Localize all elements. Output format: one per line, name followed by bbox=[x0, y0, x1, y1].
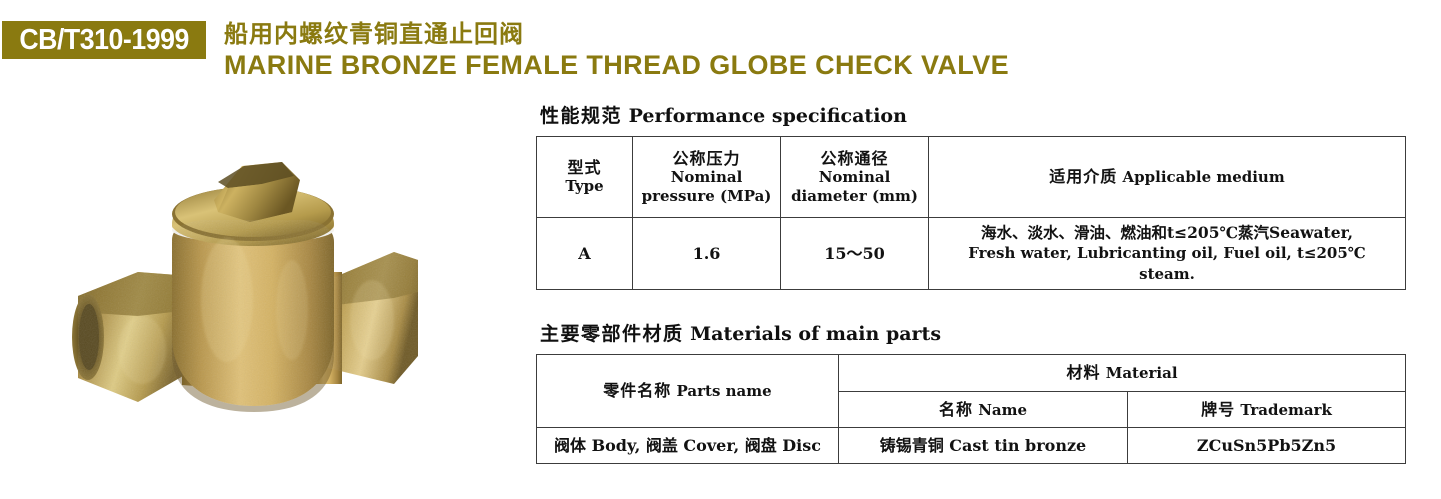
materials-table: 零件名称 Parts name 材料 Material 名称 Name 牌号 T… bbox=[536, 354, 1406, 464]
cell-nominal-pressure: 1.6 bbox=[633, 218, 781, 290]
col-header-nominal-diameter-cn: 公称通径 bbox=[785, 149, 924, 168]
performance-heading: 性能规范 Performance specification bbox=[540, 104, 1411, 128]
col-header-nominal-pressure-en: Nominal bbox=[637, 168, 776, 187]
cell-material-name: 铸锡青铜 Cast tin bronze bbox=[839, 428, 1128, 464]
col-header-applicable-medium-cn: 适用介质 bbox=[1049, 167, 1117, 186]
materials-section: 主要零部件材质 Materials of main parts 零件名称 Par… bbox=[536, 322, 1411, 464]
cell-type: A bbox=[537, 218, 633, 290]
col-header-material: 材料 Material bbox=[839, 355, 1406, 392]
valve-photo-illustration bbox=[42, 140, 462, 470]
materials-heading: 主要零部件材质 Materials of main parts bbox=[540, 322, 1411, 346]
col-header-nominal-diameter-en: Nominal bbox=[785, 168, 924, 187]
product-photo bbox=[42, 140, 462, 470]
col-header-trademark-en: Trademark bbox=[1240, 401, 1332, 419]
col-header-trademark-cn: 牌号 bbox=[1201, 400, 1235, 419]
col-header-parts-name: 零件名称 Parts name bbox=[537, 355, 839, 428]
standard-code-badge: CB/T310-1999 bbox=[2, 21, 206, 59]
col-header-nominal-pressure-cn: 公称压力 bbox=[637, 149, 776, 168]
col-header-material-en: Material bbox=[1106, 364, 1178, 382]
col-header-type-cn: 型式 bbox=[541, 158, 628, 177]
col-header-applicable-medium-en: Applicable medium bbox=[1123, 168, 1285, 186]
performance-table-header-row: 型式 Type 公称压力 Nominal pressure (MPa) 公称通径… bbox=[537, 137, 1406, 218]
col-header-material-name-en: Name bbox=[978, 401, 1027, 419]
col-header-material-name: 名称 Name bbox=[839, 392, 1128, 428]
materials-heading-en: Materials of main parts bbox=[690, 323, 941, 345]
col-header-nominal-pressure-en2: pressure (MPa) bbox=[637, 187, 776, 206]
materials-table-header-row-1: 零件名称 Parts name 材料 Material bbox=[537, 355, 1406, 392]
col-header-parts-name-cn: 零件名称 bbox=[603, 381, 671, 400]
product-title-english: MARINE BRONZE FEMALE THREAD GLOBE CHECK … bbox=[224, 49, 1009, 81]
col-header-nominal-diameter-en2: diameter (mm) bbox=[785, 187, 924, 206]
cell-applicable-medium-line1: 海水、淡水、滑油、燃油和t≤205℃蒸汽Seawater, bbox=[939, 222, 1395, 243]
col-header-type: 型式 Type bbox=[537, 137, 633, 218]
standard-code-label: CB/T310-1999 bbox=[19, 24, 188, 57]
col-header-parts-name-en: Parts name bbox=[677, 382, 772, 400]
cell-nominal-diameter: 15～50 bbox=[781, 218, 929, 290]
cell-trademark: ZCuSn5Pb5Zn5 bbox=[1128, 428, 1406, 464]
col-header-material-cn: 材料 bbox=[1066, 363, 1100, 382]
col-header-trademark: 牌号 Trademark bbox=[1128, 392, 1406, 428]
performance-table-row: A 1.6 15～50 海水、淡水、滑油、燃油和t≤205℃蒸汽Seawater… bbox=[537, 218, 1406, 290]
title-block: 船用内螺纹青铜直通止回阀 MARINE BRONZE FEMALE THREAD… bbox=[224, 20, 1009, 81]
cell-parts-name: 阀体 Body, 阀盖 Cover, 阀盘 Disc bbox=[537, 428, 839, 464]
performance-specification-section: 性能规范 Performance specification 型式 Type 公… bbox=[536, 104, 1411, 290]
col-header-applicable-medium: 适用介质 Applicable medium bbox=[929, 137, 1406, 218]
materials-heading-cn: 主要零部件材质 bbox=[540, 323, 684, 345]
cell-applicable-medium: 海水、淡水、滑油、燃油和t≤205℃蒸汽Seawater, Fresh wate… bbox=[929, 218, 1406, 290]
materials-table-row: 阀体 Body, 阀盖 Cover, 阀盘 Disc 铸锡青铜 Cast tin… bbox=[537, 428, 1406, 464]
col-header-nominal-diameter: 公称通径 Nominal diameter (mm) bbox=[781, 137, 929, 218]
col-header-type-en: Type bbox=[541, 177, 628, 196]
col-header-nominal-pressure: 公称压力 Nominal pressure (MPa) bbox=[633, 137, 781, 218]
page-header: CB/T310-1999 船用内螺纹青铜直通止回阀 MARINE BRONZE … bbox=[0, 0, 1441, 95]
col-header-material-name-cn: 名称 bbox=[939, 400, 973, 419]
product-title-chinese: 船用内螺纹青铜直通止回阀 bbox=[224, 20, 1009, 49]
performance-heading-cn: 性能规范 bbox=[540, 105, 622, 127]
performance-heading-en: Performance specification bbox=[629, 105, 907, 127]
cell-applicable-medium-line2: Fresh water, Lubricanting oil, Fuel oil,… bbox=[939, 243, 1395, 285]
performance-table: 型式 Type 公称压力 Nominal pressure (MPa) 公称通径… bbox=[536, 136, 1406, 290]
